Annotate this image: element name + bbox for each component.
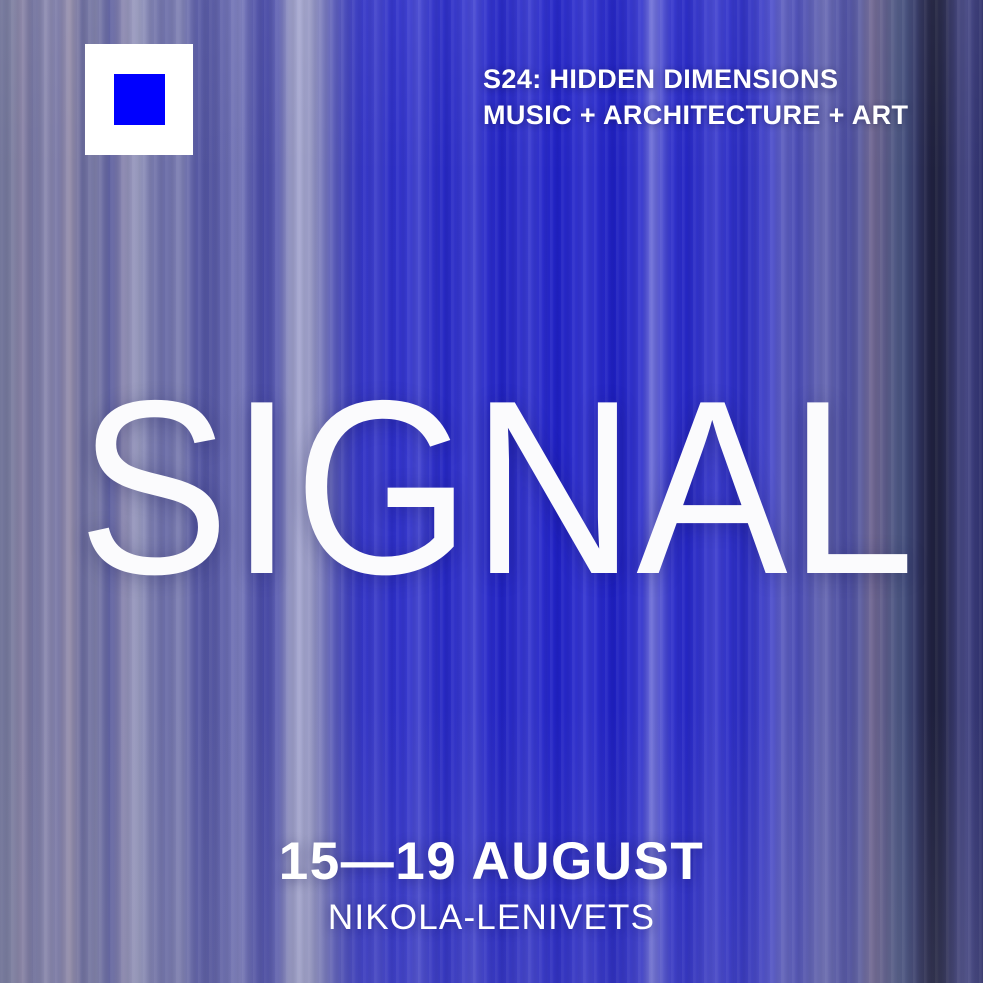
footer-block: 15—19 AUGUST NIKOLA-LENIVETS	[0, 833, 983, 938]
header-line-edition: S24: HIDDEN DIMENSIONS	[483, 62, 908, 98]
header-line-disciplines: MUSIC + ARCHITECTURE + ART	[483, 98, 908, 134]
event-dates: 15—19 AUGUST	[0, 833, 983, 890]
logo-inner-square	[114, 74, 165, 125]
event-location: NIKOLA-LENIVETS	[0, 899, 983, 938]
blue-square-logo-icon	[85, 44, 193, 155]
header-text-block: S24: HIDDEN DIMENSIONS MUSIC + ARCHITECT…	[483, 62, 908, 134]
poster: S24: HIDDEN DIMENSIONS MUSIC + ARCHITECT…	[0, 0, 983, 983]
festival-wordmark: SIGNAL	[78, 363, 851, 611]
